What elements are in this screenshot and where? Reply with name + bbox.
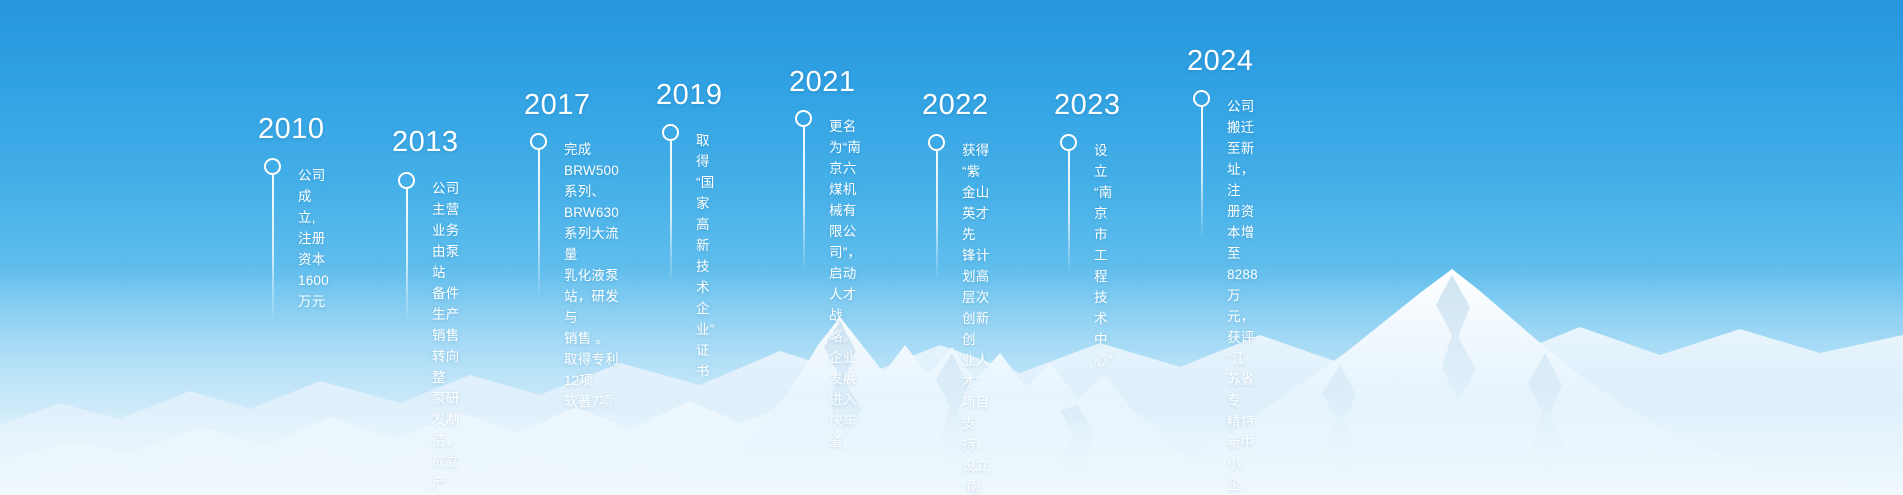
timeline-event-description: 公司搬迁至新址，注 册资本增至8288万 元，获评“江苏省专 精特新中小 企业” <box>1227 96 1258 495</box>
timeline-year-label: 2010 <box>258 113 325 146</box>
timeline-stem-line <box>1068 151 1070 271</box>
timeline-node-marker[interactable] <box>1060 134 1077 151</box>
timeline-stem-line <box>936 151 938 276</box>
timeline-stem-line <box>803 127 805 267</box>
timeline-year-label: 2023 <box>1054 89 1121 122</box>
timeline-event-description: 获得“紫金山英才先 锋计划高层次创新创 业人才”项目支持， 设立“南京市企业专 … <box>962 140 989 495</box>
timeline-node-marker[interactable] <box>1193 90 1210 107</box>
timeline-event-description: 更名为“南京六煤机 械有限公司”，启动 人才战略。企业发展 进入快车道 <box>829 116 861 452</box>
timeline-node-marker[interactable] <box>530 133 547 150</box>
timeline-stem-line <box>406 189 408 319</box>
timeline-stem-line <box>1201 107 1203 237</box>
timeline-stem-line <box>538 150 540 295</box>
timeline-event-description: 公司主营业务由泵站 备件生产销售转向整 泵研发制造，成立产 品研发中心,公司注册… <box>432 178 463 495</box>
timeline-event-description: 公司成立,注册资本 1600万元 <box>298 165 329 312</box>
timeline-track: 2010公司成立,注册资本 1600万元2013公司主营业务由泵站 备件生产销售… <box>0 0 1903 495</box>
timeline-stem-line <box>272 175 274 320</box>
timeline-node-marker[interactable] <box>662 124 679 141</box>
timeline-node-marker[interactable] <box>795 110 812 127</box>
timeline-year-label: 2017 <box>524 89 591 122</box>
timeline-year-label: 2021 <box>789 66 856 99</box>
timeline-node-marker[interactable] <box>398 172 415 189</box>
timeline-infographic: 2010公司成立,注册资本 1600万元2013公司主营业务由泵站 备件生产销售… <box>0 0 1903 495</box>
timeline-event-description: 完成BRW500系列、 BRW630系列大流量 乳化液泵站，研发与 销售 。取得… <box>564 139 619 412</box>
timeline-stem-line <box>670 141 672 281</box>
timeline-year-label: 2019 <box>656 79 723 112</box>
timeline-event-description: 取得“国家高新技术 企业”证书 <box>696 130 714 382</box>
timeline-node-marker[interactable] <box>928 134 945 151</box>
timeline-year-label: 2013 <box>392 126 459 159</box>
timeline-year-label: 2024 <box>1187 45 1254 78</box>
timeline-event-description: 设立“南京市工程技 术中心” <box>1094 140 1112 371</box>
timeline-node-marker[interactable] <box>264 158 281 175</box>
timeline-year-label: 2022 <box>922 89 989 122</box>
